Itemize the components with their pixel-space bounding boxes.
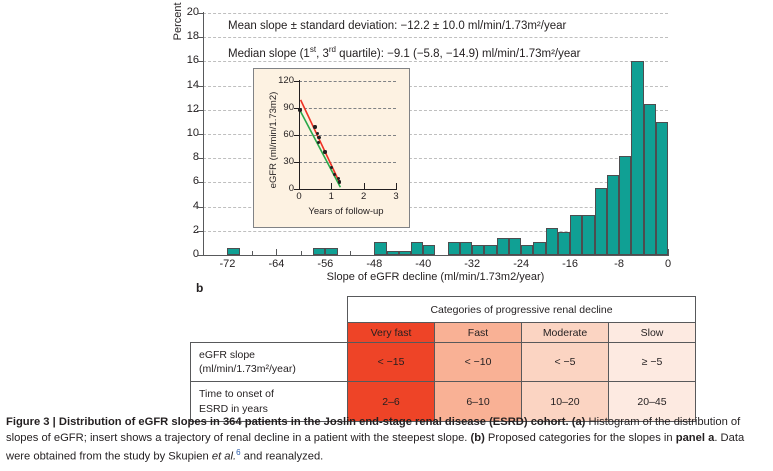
y-axis-tick-mark <box>197 231 203 232</box>
inset-x-tick-mark <box>396 183 397 189</box>
inset-y-tick-mark <box>294 162 299 163</box>
inset-x-tick-label: 3 <box>388 191 404 202</box>
y-axis-tick-mark <box>197 37 203 38</box>
histogram-bar <box>387 251 399 255</box>
empty-corner-cell <box>191 297 348 323</box>
y-axis-tick-mark <box>197 182 203 183</box>
inset-y-axis-line <box>299 80 300 190</box>
panel-a-histogram: Percent of study group Mean slope ± stan… <box>0 0 773 280</box>
histogram-bar <box>497 238 509 255</box>
empty-corner-cell-2 <box>191 323 348 343</box>
inset-y-tick-label: 0 <box>262 183 294 194</box>
inset-trajectory-plot: eGFR (ml/min/1.73m2) Years of follow-up … <box>253 68 410 228</box>
table-row-category-names: Very fastFastModerateSlow <box>191 323 696 343</box>
caption-b-tag: (b) <box>471 432 485 444</box>
x-axis-tick-label: -24 <box>501 258 541 270</box>
caption-et-al: et al. <box>212 451 236 463</box>
histogram-bar <box>399 251 411 255</box>
inset-data-point <box>317 141 320 144</box>
histogram-bar <box>595 188 607 255</box>
table-row: eGFR slope(ml/min/1.73m²/year)< −15< −10… <box>191 343 696 382</box>
inset-data-point <box>338 180 341 183</box>
x-axis-tick-label: -16 <box>550 258 590 270</box>
histogram-bar <box>644 104 656 255</box>
histogram-bar <box>631 61 643 255</box>
histogram-bar <box>313 248 325 255</box>
inset-plot-area <box>299 81 396 189</box>
y-axis-tick-label: 4 <box>173 200 199 212</box>
inset-y-tick-mark <box>294 135 299 136</box>
inset-gridline <box>299 81 396 82</box>
inset-y-tick-label: 90 <box>262 102 294 113</box>
histogram-bar <box>484 245 496 255</box>
histogram-bar <box>325 248 337 255</box>
y-axis-tick-label: 18 <box>173 30 199 42</box>
inset-x-axis-label: Years of follow-up <box>284 206 408 217</box>
stat-median-pre: Median slope (1 <box>228 48 310 60</box>
histogram-bar <box>374 242 386 255</box>
x-axis-tick-label: -48 <box>354 258 394 270</box>
inset-x-tick-mark <box>331 183 332 189</box>
inset-x-tick-label: 1 <box>323 191 339 202</box>
caption-tail-2: and reanalyzed. <box>241 451 324 463</box>
caption-a-tag: (a) <box>572 416 586 428</box>
x-axis-tick-label: 0 <box>648 258 688 270</box>
caption-b-text: Proposed categories for the slopes in <box>485 432 676 444</box>
x-axis-tick-label: -64 <box>256 258 296 270</box>
histogram-bar <box>227 248 239 255</box>
stat-median-post: quartile): −9.1 (−5.8, −14.9) ml/min/1.7… <box>336 48 581 60</box>
y-axis-tick-label: 10 <box>173 127 199 139</box>
histogram-bar <box>521 245 533 255</box>
y-axis-tick-mark <box>197 13 203 14</box>
categories-table: Categories of progressive renal decline … <box>190 296 696 422</box>
y-axis-tick-mark <box>197 86 203 87</box>
y-axis-tick-label: 12 <box>173 103 199 115</box>
histogram-bar <box>558 232 570 255</box>
histogram-bar <box>460 242 472 255</box>
inset-data-point <box>298 108 301 111</box>
inset-y-tick-mark <box>294 81 299 82</box>
table-category-header: Very fast <box>348 323 435 343</box>
inset-data-point <box>330 166 333 169</box>
inset-data-point <box>323 150 326 153</box>
gridline <box>203 37 668 38</box>
x-axis-minor-tick <box>350 251 351 255</box>
histogram-bar <box>656 122 668 255</box>
histogram-bar <box>509 238 521 255</box>
y-axis-tick-label: 16 <box>173 54 199 66</box>
x-axis-tick-label: -56 <box>305 258 345 270</box>
table-row-header-span: Categories of progressive renal decline <box>191 297 696 323</box>
inset-x-tick-label: 0 <box>291 191 307 202</box>
inset-y-tick-label: 30 <box>262 156 294 167</box>
histogram-bar <box>546 228 558 255</box>
inset-gridline <box>299 135 396 136</box>
stat-median-slope: Median slope (1st, 3rd quartile): −9.1 (… <box>228 45 580 60</box>
y-axis-tick-label: 8 <box>173 151 199 163</box>
caption-panel-a-ref: panel a <box>676 432 715 444</box>
histogram-bar <box>423 245 435 255</box>
table-category-header: Moderate <box>522 323 609 343</box>
inset-x-tick-mark <box>364 183 365 189</box>
table-cell: < −5 <box>522 343 609 382</box>
inset-data-point <box>313 125 316 128</box>
y-axis-tick-label: 0 <box>173 248 199 260</box>
x-axis-tick-label: -32 <box>452 258 492 270</box>
y-axis-tick-mark <box>197 110 203 111</box>
histogram-bar <box>619 156 631 255</box>
histogram-bar <box>411 242 423 255</box>
inset-x-tick-mark <box>299 183 300 189</box>
histogram-bar <box>448 242 460 255</box>
y-axis-tick-label: 2 <box>173 224 199 236</box>
caption-figure-number: Figure 3 <box>6 416 50 428</box>
inset-y-tick-mark <box>294 189 299 190</box>
table-row-header: eGFR slope(ml/min/1.73m²/year) <box>191 343 348 382</box>
inset-x-tick-label: 2 <box>356 191 372 202</box>
histogram-bar <box>570 215 582 255</box>
table-body: Categories of progressive renal decline … <box>191 297 696 422</box>
table-cell: ≥ −5 <box>609 343 696 382</box>
y-axis-tick-mark <box>197 134 203 135</box>
histogram-bar <box>607 175 619 255</box>
histogram-bar <box>582 215 594 255</box>
figure-caption: Figure 3 | Distribution of eGFR slopes i… <box>6 415 766 465</box>
x-axis-tick-mark <box>668 249 669 255</box>
row-header-line-1: eGFR slope <box>199 349 255 361</box>
x-axis-line <box>202 255 669 256</box>
stat-mean-slope: Mean slope ± standard deviation: −12.2 ±… <box>228 20 566 32</box>
row-header-line-1: Time to onset of <box>199 388 274 400</box>
x-axis-tick-mark <box>276 249 277 255</box>
y-axis-line <box>203 12 204 256</box>
table-category-header: Slow <box>609 323 696 343</box>
y-axis-tick-mark <box>197 61 203 62</box>
row-header-line-2: (ml/min/1.73m²/year) <box>199 363 296 375</box>
panel-b-label: b <box>196 281 203 295</box>
y-axis-tick-mark <box>197 158 203 159</box>
ordinal-rd: rd <box>329 45 336 54</box>
y-axis-tick-mark <box>197 255 203 256</box>
x-axis-tick-label: -8 <box>599 258 639 270</box>
inset-gridline <box>299 162 396 163</box>
stat-median-mid: , 3 <box>316 48 329 60</box>
table-header-categories: Categories of progressive renal decline <box>348 297 696 323</box>
x-axis-tick-label: -72 <box>207 258 247 270</box>
inset-x-axis-line <box>298 189 397 190</box>
table-category-header: Fast <box>435 323 522 343</box>
gridline <box>203 61 668 62</box>
table-cell: < −10 <box>435 343 522 382</box>
y-axis-tick-label: 14 <box>173 79 199 91</box>
x-axis-label: Slope of eGFR decline (ml/min/1.73m2/yea… <box>203 271 668 283</box>
inset-y-tick-label: 60 <box>262 129 294 140</box>
histogram-bar <box>472 245 484 255</box>
inset-gridline <box>299 108 396 109</box>
caption-title: Distribution of eGFR slopes in 364 patie… <box>59 416 569 428</box>
y-axis-tick-mark <box>197 207 203 208</box>
inset-y-tick-label: 120 <box>262 75 294 86</box>
x-axis-tick-label: -40 <box>403 258 443 270</box>
y-axis-tick-label: 6 <box>173 175 199 187</box>
gridline <box>203 13 668 14</box>
row-header-line-2: ESRD in years <box>199 403 268 415</box>
x-axis-minor-tick <box>301 251 302 255</box>
table-cell: < −15 <box>348 343 435 382</box>
x-axis-minor-tick <box>252 251 253 255</box>
y-axis-tick-label: 20 <box>173 6 199 18</box>
histogram-bar <box>533 242 545 255</box>
